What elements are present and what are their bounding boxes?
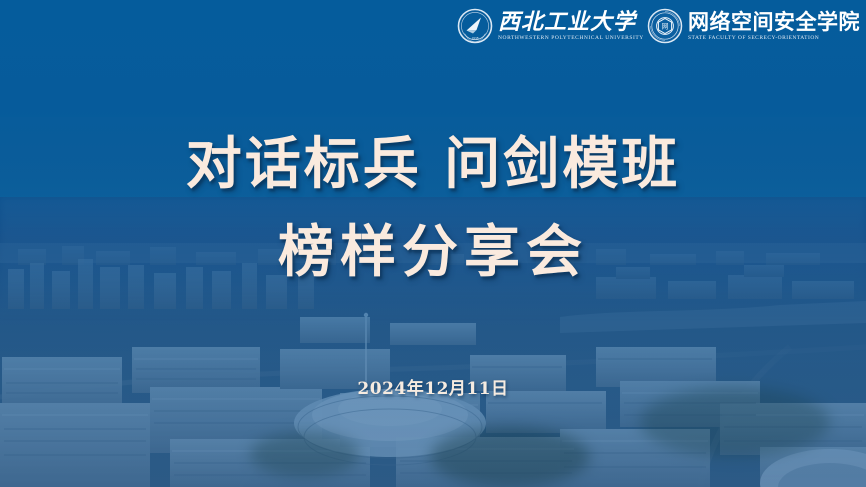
npu-name-en: NORTHWESTERN POLYTECHNICAL UNIVERSITY — [498, 34, 644, 42]
event-date: 2024年12月11日 — [0, 374, 866, 399]
npu-name-cn: 西北工业大学 — [498, 11, 641, 34]
npu-crest-icon: 1938 — [457, 8, 493, 44]
npu-logo-text: 西北工业大学 NORTHWESTERN POLYTECHNICAL UNIVER… — [498, 11, 641, 42]
cyberspace-security-school-logo: 网 网络空间安全学院 STATE FACULTY OF SECRECY-ORIE… — [647, 8, 860, 44]
npu-logo: 1938 西北工业大学 NORTHWESTERN POLYTECHNICAL U… — [457, 8, 641, 44]
svg-text:网: 网 — [662, 23, 669, 31]
title-line-primary: 对话标兵 问剑模班 — [0, 128, 866, 200]
presentation-title-slide: 1938 西北工业大学 NORTHWESTERN POLYTECHNICAL U… — [0, 0, 866, 487]
title-line-secondary: 榜样分享会 — [0, 216, 866, 288]
school-name-cn: 网络空间安全学院 — [688, 11, 860, 34]
cyberspace-security-school-crest-icon: 网 — [647, 8, 683, 44]
svg-text:1938: 1938 — [472, 36, 479, 40]
cyberspace-security-school-logo-text: 网络空间安全学院 STATE FACULTY OF SECRECY-ORIENT… — [688, 11, 860, 42]
title-block: 对话标兵 问剑模班 榜样分享会 — [0, 128, 866, 288]
institution-logo-bar: 1938 西北工业大学 NORTHWESTERN POLYTECHNICAL U… — [457, 8, 860, 44]
school-name-en: STATE FACULTY OF SECRECY-ORIENTATION — [688, 34, 863, 42]
